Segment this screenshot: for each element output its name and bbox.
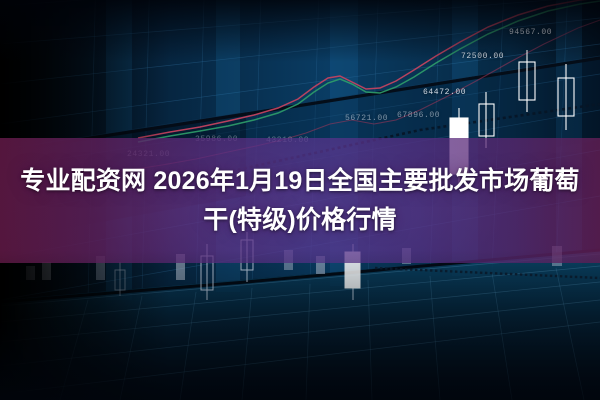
- price-label-56721: 56721.00: [345, 114, 388, 123]
- screenshot-root: 94567.00 72500.00 64472.00 56721.00 6789…: [0, 0, 600, 400]
- price-label-64472: 64472.00: [423, 88, 466, 97]
- title-container: 专业配资网 2026年1月19日全国主要批发市场葡萄干(特级)价格行情: [0, 138, 600, 263]
- price-label-67896: 67896.00: [397, 111, 440, 120]
- page-title: 专业配资网 2026年1月19日全国主要批发市场葡萄干(特级)价格行情: [20, 162, 580, 240]
- top-vignette: [0, 0, 600, 62]
- bottom-vignette: [0, 250, 600, 400]
